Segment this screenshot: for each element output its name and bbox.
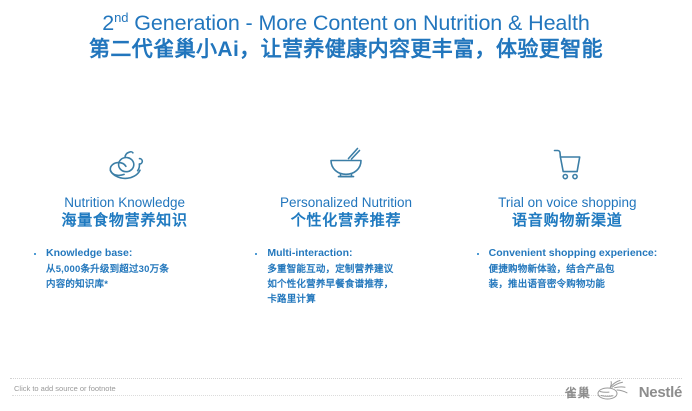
column-heading-chinese: 语音购物新渠道 — [498, 212, 636, 230]
bullet-label-english: Convenient shopping experience: — [489, 247, 668, 260]
title-ordinal-number: 2 — [102, 11, 114, 35]
bullet-dot-icon — [477, 253, 479, 255]
column-heading-english: Trial on voice shopping — [498, 195, 636, 211]
feature-column-nutrition-knowledge: Nutrition Knowledge 海量食物营养知识 Knowledge b… — [14, 140, 235, 292]
bullet-detail-chinese: 多重智能互动，定制营养建议 如个性化营养早餐食谱推荐， 卡路里计算 — [267, 262, 446, 307]
bullet-detail-line: 装，推出语音密令购物功能 — [489, 277, 668, 292]
bowl-chopsticks-icon — [323, 140, 369, 186]
fruit-apple-icon — [102, 140, 148, 186]
bullet-detail-line: 卡路里计算 — [267, 292, 446, 307]
column-body: Multi-interaction: 多重智能互动，定制营养建议 如个性化营养早… — [235, 247, 456, 307]
bullet-dot-icon — [34, 253, 36, 255]
feature-column-personalized-nutrition: Personalized Nutrition 个性化营养推荐 Multi-int… — [235, 140, 456, 307]
slide-title-english: 2nd Generation - More Content on Nutriti… — [0, 10, 692, 36]
bullet-label-english: Multi-interaction: — [267, 247, 446, 260]
title-english-rest: Generation - More Content on Nutrition &… — [128, 11, 589, 35]
bullet-item: Convenient shopping experience: 便捷购物新体验，… — [475, 247, 668, 292]
nestle-birdnest-icon — [595, 379, 635, 406]
footnote-placeholder[interactable]: Click to add source or footnote — [14, 384, 116, 394]
bullet-detail-line: 便捷购物新体验，结合产品包 — [489, 262, 668, 277]
bullet-item: Knowledge base: 从5,000条升级到超过30万条 内容的知识库* — [32, 247, 225, 292]
bullet-detail-chinese: 便捷购物新体验，结合产品包 装，推出语音密令购物功能 — [489, 262, 668, 292]
title-ordinal-suffix: nd — [114, 10, 128, 25]
bullet-detail-line: 如个性化营养早餐食谱推荐， — [267, 277, 446, 292]
column-heading-english: Personalized Nutrition — [280, 195, 412, 211]
column-heading-english: Nutrition Knowledge — [61, 195, 187, 211]
bullet-label-english: Knowledge base: — [46, 247, 225, 260]
nestle-wordmark: Nestlé — [639, 385, 682, 401]
bullet-item: Multi-interaction: 多重智能互动，定制营养建议 如个性化营养早… — [253, 247, 446, 307]
bullet-detail-line: 内容的知识库* — [46, 277, 225, 292]
slide-title-block: 2nd Generation - More Content on Nutriti… — [0, 10, 692, 62]
column-heading-chinese: 个性化营养推荐 — [280, 212, 412, 230]
feature-columns: Nutrition Knowledge 海量食物营养知识 Knowledge b… — [14, 140, 678, 307]
slide-title-chinese: 第二代雀巢小Ai，让营养健康内容更丰富，体验更智能 — [0, 37, 692, 62]
shopping-cart-icon — [544, 140, 590, 186]
bullet-detail-line: 多重智能互动，定制营养建议 — [267, 262, 446, 277]
bullet-dot-icon — [255, 253, 257, 255]
column-body: Convenient shopping experience: 便捷购物新体验，… — [457, 247, 678, 292]
presentation-slide: 2nd Generation - More Content on Nutriti… — [0, 0, 692, 411]
column-heading-chinese: 海量食物营养知识 — [61, 212, 187, 230]
column-body: Knowledge base: 从5,000条升级到超过30万条 内容的知识库* — [14, 247, 235, 292]
bullet-detail-chinese: 从5,000条升级到超过30万条 内容的知识库* — [46, 262, 225, 292]
nestle-logo: 雀巢 Nestlé — [565, 379, 682, 406]
bullet-detail-line: 从5,000条升级到超过30万条 — [46, 262, 225, 277]
column-heading: Personalized Nutrition 个性化营养推荐 — [280, 195, 412, 230]
nestle-logo-chinese: 雀巢 — [565, 386, 591, 400]
feature-column-voice-shopping: Trial on voice shopping 语音购物新渠道 Convenie… — [457, 140, 678, 292]
column-heading: Trial on voice shopping 语音购物新渠道 — [498, 195, 636, 230]
column-heading: Nutrition Knowledge 海量食物营养知识 — [61, 195, 187, 230]
footnote-placeholder-underline — [12, 395, 612, 396]
